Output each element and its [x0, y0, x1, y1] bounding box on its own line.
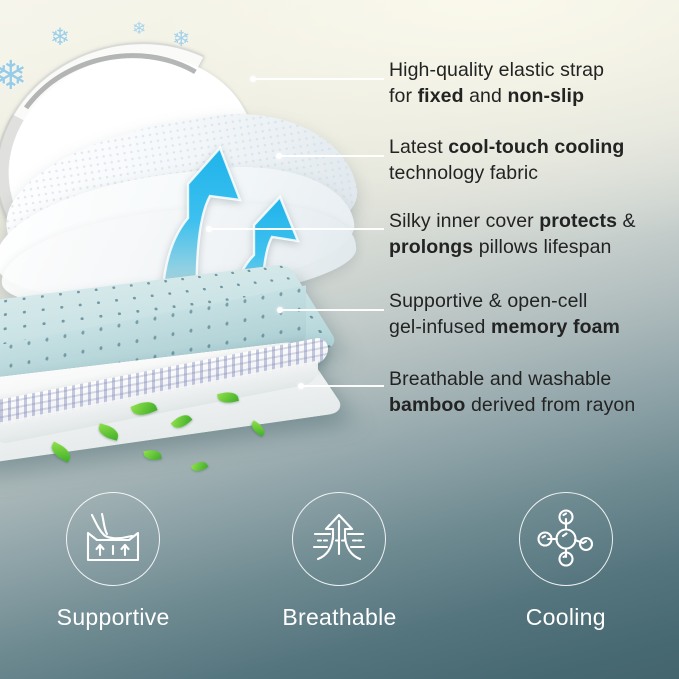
callout-leader — [212, 228, 384, 229]
product-illustration: ❄ ❄ ❄ ❄ ❄ ❄ ❄ ❄ ❄ ❄ ❄ ❄ ❄ ❄ — [0, 14, 376, 484]
callout-line-2: bamboo derived from rayon — [389, 392, 635, 418]
neck-support-icon — [82, 510, 144, 568]
snowflake-icon: ❄ — [50, 26, 70, 50]
callout-line-silky-inner-cover — [206, 226, 384, 232]
callout-line-cool-touch — [276, 153, 384, 159]
callout-text-elastic-strap: High-quality elastic strap for fixed and… — [389, 57, 604, 109]
callout-line-2: for fixed and non-slip — [389, 83, 604, 109]
leaf-icon — [191, 459, 208, 474]
callout-line-elastic-strap — [250, 76, 384, 82]
callout-leader — [256, 78, 384, 79]
airflow-arrow-icon — [308, 509, 370, 569]
callout-line-2: gel-infused memory foam — [389, 314, 620, 340]
snowflake-icon: ❄ — [132, 20, 146, 37]
feature-label: Supportive — [57, 604, 170, 631]
feature-label: Breathable — [282, 604, 396, 631]
feature-label: Cooling — [526, 604, 606, 631]
callout-leader — [304, 385, 384, 386]
feature-breathable[interactable]: Breathable — [244, 492, 434, 631]
infographic-canvas: ❄ ❄ ❄ ❄ ❄ ❄ ❄ ❄ ❄ ❄ ❄ ❄ ❄ ❄ — [0, 0, 679, 679]
callout-line-1: Silky inner cover protects & — [389, 208, 636, 234]
leaf-icon — [143, 449, 161, 461]
feature-circle — [292, 492, 386, 586]
callout-line-memory-foam — [277, 307, 384, 313]
callout-line-1: Breathable and washable — [389, 366, 635, 392]
callout-line-2: prolongs pillows lifespan — [389, 234, 636, 260]
snowflake-icon: ❄ — [0, 56, 28, 96]
feature-circle — [519, 492, 613, 586]
feature-cooling[interactable]: Cooling — [471, 492, 661, 631]
callout-text-bamboo: Breathable and washable bamboo derived f… — [389, 366, 635, 418]
callout-text-cool-touch: Latest cool-touch cooling technology fab… — [389, 134, 624, 186]
callout-line-1: High-quality elastic strap — [389, 57, 604, 83]
callout-line-1: Supportive & open-cell — [389, 288, 620, 314]
feature-supportive[interactable]: Supportive — [18, 492, 208, 631]
callout-line-1: Latest cool-touch cooling — [389, 134, 624, 160]
callout-leader — [282, 155, 384, 156]
feature-badges: Supportive Breathable — [0, 492, 679, 672]
callout-line-2: technology fabric — [389, 160, 624, 186]
callout-line-bamboo — [298, 383, 384, 389]
callout-leader — [283, 309, 384, 310]
callout-text-silky-inner-cover: Silky inner cover protects & prolongs pi… — [389, 208, 636, 260]
callout-text-memory-foam: Supportive & open-cell gel-infused memor… — [389, 288, 620, 340]
feature-circle — [66, 492, 160, 586]
cooling-molecule-icon — [536, 509, 596, 569]
